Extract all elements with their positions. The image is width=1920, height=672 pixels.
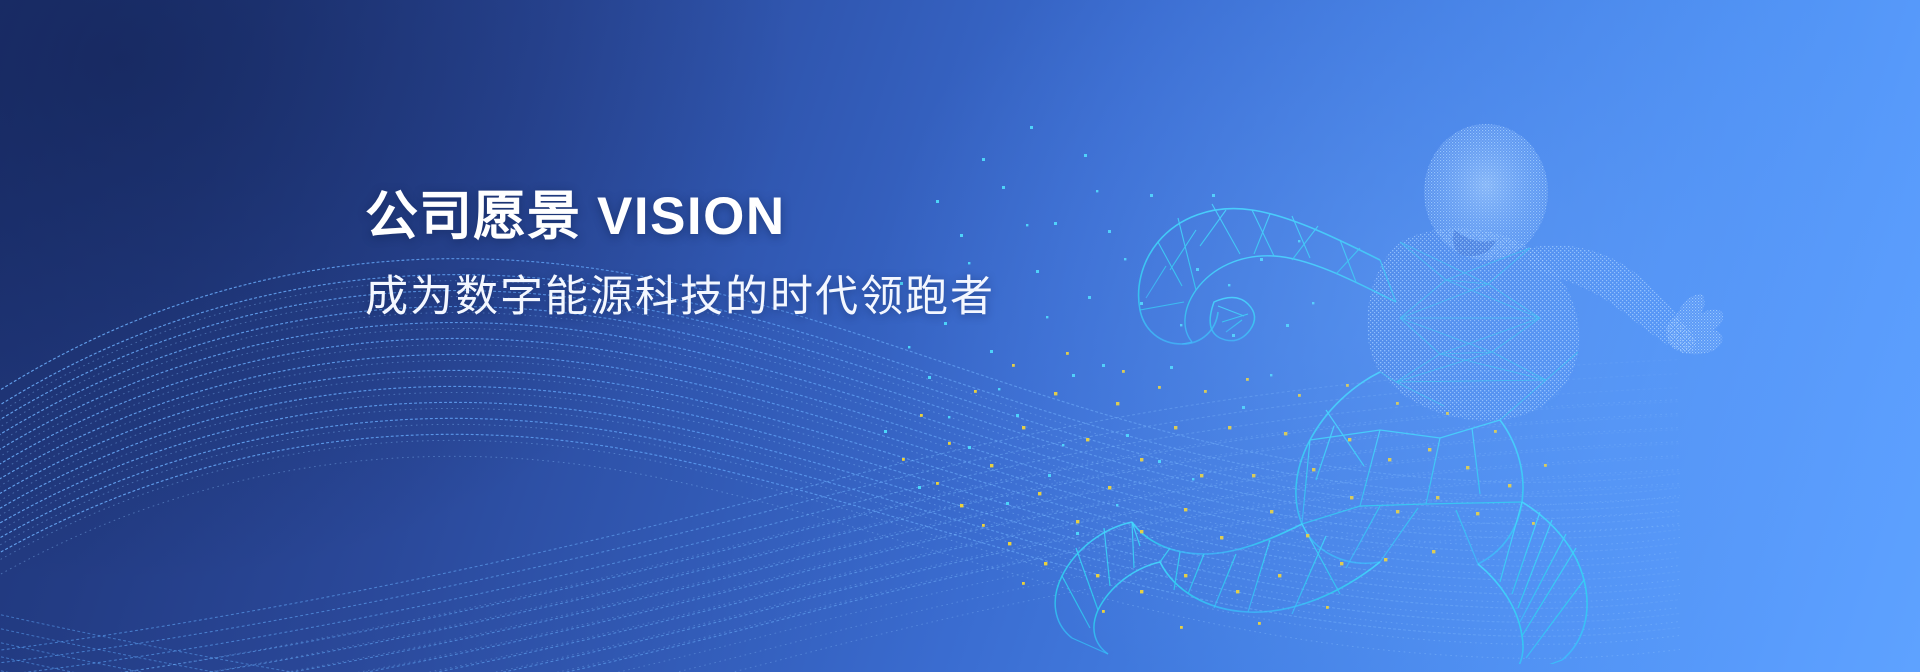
figure-mesh-lines	[1380, 242, 1578, 420]
figure-torso	[1367, 228, 1579, 420]
figure-left-arm	[1139, 204, 1396, 344]
headline-english: VISION	[597, 187, 786, 246]
right-side-glow	[0, 0, 1920, 672]
figure-yellow-particles	[902, 352, 1547, 629]
runner-wireframe-figure	[840, 34, 1740, 664]
figure-back-leg	[1478, 502, 1587, 664]
figure-trailing-foot	[1055, 522, 1160, 654]
banner-subheadline: 成为数字能源科技的时代领跑者	[365, 271, 1125, 325]
figure-right-arm	[1528, 245, 1723, 354]
figure-front-thigh	[1132, 522, 1380, 614]
figure-hip	[1296, 372, 1523, 568]
vision-banner: 公司愿景VISION 成为数字能源科技的时代领跑者	[0, 0, 1920, 672]
background-vignette	[0, 0, 1920, 672]
headline-chinese: 公司愿景	[365, 187, 581, 246]
figure-head	[1424, 124, 1548, 260]
banner-copy: 公司愿景VISION 成为数字能源科技的时代领跑者	[365, 186, 1125, 324]
banner-headline: 公司愿景VISION	[365, 186, 1125, 249]
